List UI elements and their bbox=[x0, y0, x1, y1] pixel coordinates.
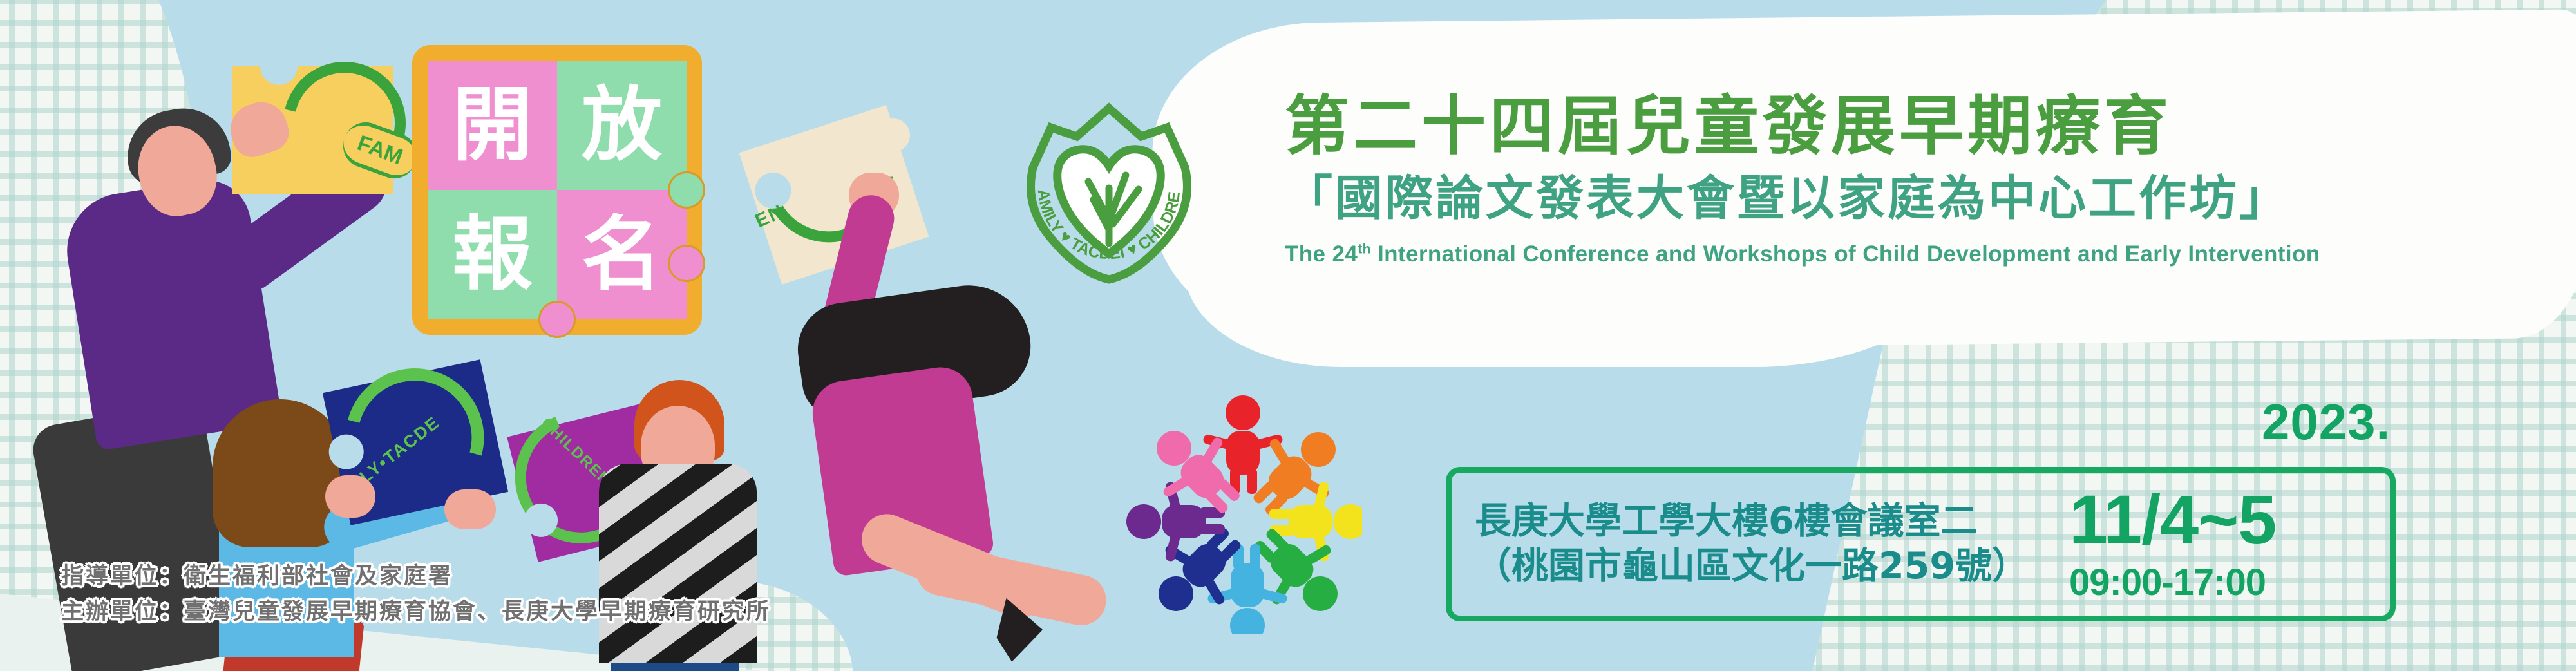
organizer-credits: 指導單位：衛生福利部社會及家庭署 主辦單位：臺灣兒童發展早期療育協會、長庚大學早… bbox=[61, 559, 771, 630]
conference-title-sub: 「國際論文發表大會暨以家庭為中心工作坊」 bbox=[1285, 170, 2289, 227]
puzzle-tile-bao: 報 bbox=[428, 190, 557, 319]
conference-title-english-pre: The 24 bbox=[1285, 241, 1358, 267]
children-ring-icon bbox=[1124, 390, 1362, 634]
event-date: 11/4~5 bbox=[2069, 485, 2390, 554]
person-woman-blue-hand-left bbox=[325, 475, 375, 518]
puzzle-knob-left bbox=[538, 301, 576, 338]
conference-title-english-ordinal: th bbox=[1358, 241, 1371, 256]
event-time: 09:00-17:00 bbox=[2069, 562, 2390, 603]
registration-puzzle-grid: 開 放 報 名 bbox=[428, 61, 687, 319]
puzzle-knob-top bbox=[668, 171, 705, 209]
conference-title-english: The 24th International Conference and Wo… bbox=[1285, 241, 2289, 267]
tacdei-logo-icon: FAMILY ♥ TACDEI ♥ CHILDREN bbox=[1012, 91, 1206, 285]
organizer-host: 主辦單位：臺灣兒童發展早期療育協會、長庚大學早期療育研究所 bbox=[61, 594, 771, 630]
puzzle-tile-fang: 放 bbox=[557, 61, 687, 190]
puzzle-knob-right bbox=[668, 245, 705, 282]
event-venue-line2: （桃園市龜山區文化一路259號） bbox=[1475, 544, 2067, 589]
conference-title-block: 第二十四屆兒童發展早期療育 「國際論文發表大會暨以家庭為中心工作坊」 The 2… bbox=[1285, 90, 2289, 267]
event-venue: 長庚大學工學大樓6樓會議室二 （桃園市龜山區文化一路259號） bbox=[1452, 499, 2067, 589]
registration-puzzle-block[interactable]: 開 放 報 名 bbox=[412, 45, 702, 335]
puzzle-tile-ming: 名 bbox=[557, 190, 687, 319]
event-venue-line1: 長庚大學工學大樓6樓會議室二 bbox=[1475, 499, 2067, 544]
conference-title-main: 第二十四屆兒童發展早期療育 bbox=[1285, 90, 2289, 162]
conference-title-english-post: International Conference and Workshops o… bbox=[1371, 241, 2320, 267]
event-schedule: 11/4~5 09:00-17:00 bbox=[2067, 485, 2390, 603]
conference-banner: FAM 開 放 報 名 ILY•TACDE CHILDREN bbox=[0, 0, 2576, 671]
puzzle-tile-kai: 開 bbox=[428, 61, 557, 190]
event-year: 2023. bbox=[2262, 393, 2391, 451]
event-info-box: 長庚大學工學大樓6樓會議室二 （桃園市龜山區文化一路259號） 11/4~5 0… bbox=[1446, 467, 2396, 621]
organizer-advisor: 指導單位：衛生福利部社會及家庭署 bbox=[61, 559, 771, 594]
puzzle-piece-yellow-notch bbox=[260, 48, 298, 85]
person-woman-blue-hand-right bbox=[444, 489, 496, 529]
